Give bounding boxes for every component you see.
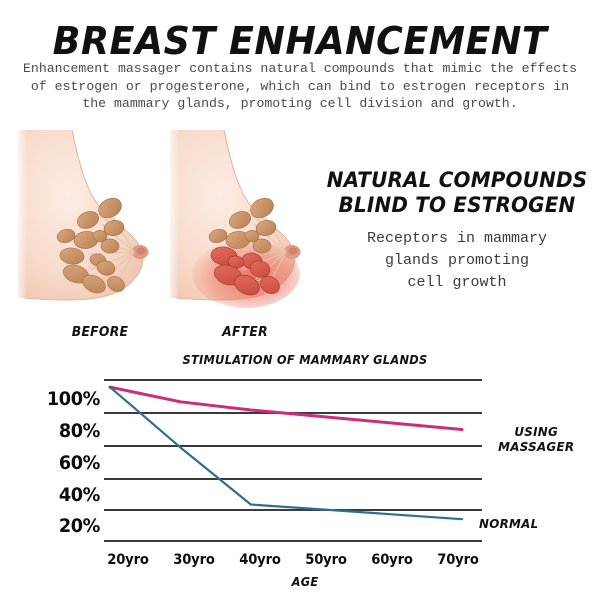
side-heading-line-1: NATURAL COMPOUNDS [325,168,589,193]
x-axis-tick-3: 50yro [293,552,359,568]
anatomy-svg-after [166,128,318,324]
side-body-line-3: cell growth [318,272,596,294]
y-axis-tick-0: 100% [42,388,100,410]
series-label-using-massager: USING MASSAGER [483,424,589,454]
series-line-1 [110,387,462,519]
x-axis-tick-1: 30yro [161,552,227,568]
side-panel-heading: NATURAL COMPOUNDS BLIND TO ESTROGEN [325,168,589,218]
chart-title: STIMULATION OF MAMMARY GLANDS [115,353,495,367]
x-axis-tick-0: 20yro [95,552,161,568]
x-axis-tick-2: 40yro [227,552,293,568]
side-body-line-2: glands promoting [318,250,596,272]
y-axis-tick-1: 80% [42,420,100,442]
chart-series-lines [104,379,482,542]
side-body-line-1: Receptors in mammary [318,228,596,250]
side-panel-body: Receptors in mammary glands promoting ce… [318,228,596,294]
y-axis-tick-2: 60% [42,452,100,474]
x-axis-label: AGE [253,575,358,589]
intro-paragraph: Enhancement massager contains natural co… [22,60,578,113]
y-axis-tick-3: 40% [42,484,100,506]
chart-plot-area [104,379,482,542]
caption-before: BEFORE [43,325,157,340]
anatomy-svg-before [14,128,166,324]
y-axis-tick-4: 20% [42,515,100,537]
breast-illustration-before [14,128,166,324]
page-title: BREAST ENHANCEMENT [12,22,588,60]
side-heading-line-2: BLIND TO ESTROGEN [325,193,589,218]
series-label-normal: NORMAL [479,516,574,531]
x-axis-tick-5: 70yro [425,552,491,568]
series-line-0 [110,387,462,429]
illustration-group [14,128,324,328]
caption-after: AFTER [188,325,302,340]
infographic-root: BREAST ENHANCEMENT Enhancement massager … [0,0,600,600]
breast-illustration-after [166,128,318,324]
x-axis-tick-4: 60yro [359,552,425,568]
